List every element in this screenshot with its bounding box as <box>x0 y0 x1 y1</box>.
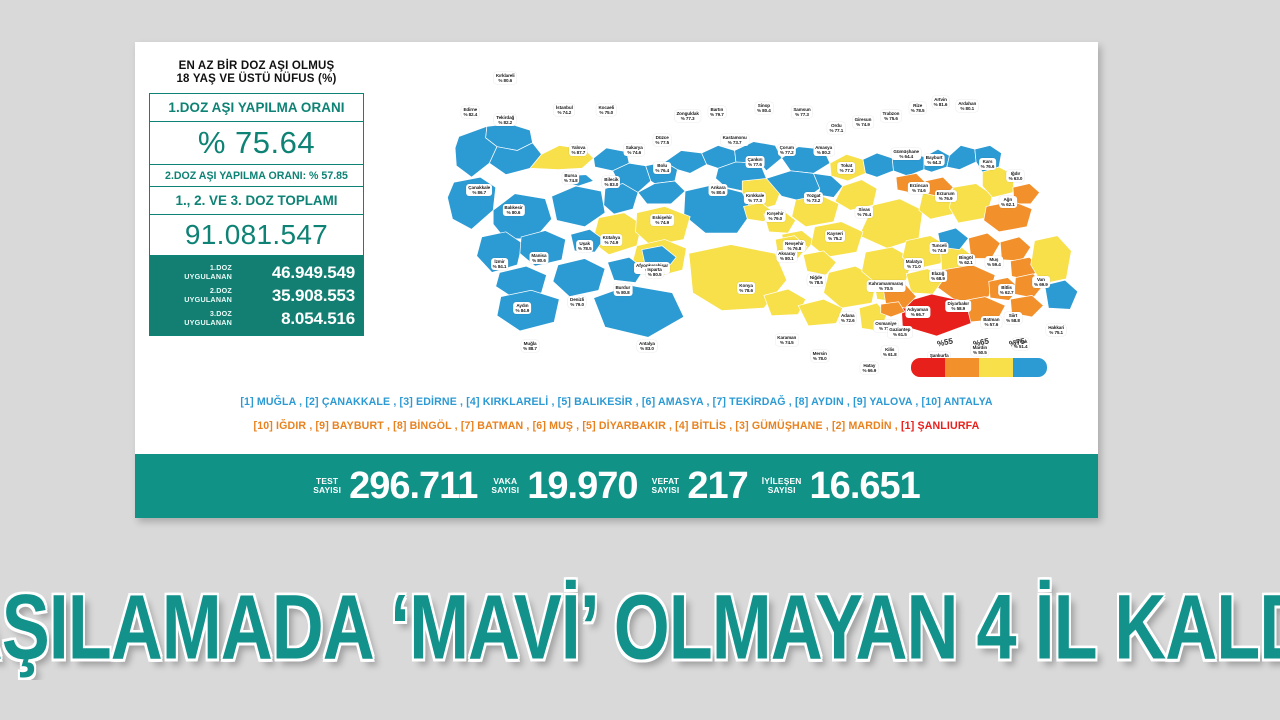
legend-tick-65: %65 <box>972 336 990 348</box>
province-label-tokat: Tokat % 77.2 <box>838 162 856 174</box>
province-label-rize: Rize % 78.5 <box>909 102 927 114</box>
province-label-kayseri: Kayseri % 75.2 <box>825 230 845 242</box>
total-recovered-value: 16.651 <box>810 465 920 508</box>
total-case: VAKA SAYISI 19.970 <box>491 465 637 508</box>
province-label-ankara: Ankara % 80.6 <box>709 184 728 196</box>
province-label-kahramanmaraş: Kahramanmaraş % 70.5 <box>867 280 906 292</box>
total-doses-title: 1., 2. VE 3. DOZ TOPLAMI <box>149 186 364 214</box>
province-label-erzincan: Erzincan % 74.6 <box>908 182 930 194</box>
province-label-yozgat: Yozgat % 73.2 <box>804 192 822 204</box>
province-label-ardahan: Ardahan % 80.1 <box>956 100 978 112</box>
province-label-isparta: Isparta % 80.5 <box>645 266 663 278</box>
province-label-zonguldak: Zonguldak % 77.3 <box>674 110 700 122</box>
province-label-trabzon: Trabzon % 75.6 <box>880 110 901 122</box>
province-label-artvin: Artvin % 81.6 <box>932 96 950 108</box>
province-label-kırklareli: Kırklareli % 80.6 <box>494 72 517 84</box>
province-label-aydın: Aydın % 84.9 <box>514 302 532 314</box>
province-label-sinop: Sinop % 80.4 <box>755 102 773 114</box>
province-label-balıkesir: Balıkesir % 80.6 <box>502 204 524 216</box>
province-label-kars: Kars % 76.6 <box>979 158 997 170</box>
province-label-kastamonu: Kastamonu % 73.7 <box>721 134 749 146</box>
province-label-kilis: Kilis % 61.8 <box>881 346 899 358</box>
province-label-mersin: Mersin % 78.0 <box>811 350 829 362</box>
vaccination-stats-panel: EN AZ BİR DOZ AŞI OLMUŞ 18 YAŞ VE ÜSTÜ N… <box>149 60 364 336</box>
dose-1-label: 1.DOZ UYGULANAN <box>154 264 232 280</box>
first-dose-rate-title: 1.DOZ AŞI YAPILMA ORANI <box>149 93 364 121</box>
province-label-malatya: Malatya % 71.0 <box>904 258 924 270</box>
map-legend: %55 %65 %75 <box>911 338 1051 378</box>
province-label-ordu: Ordu % 77.1 <box>827 122 845 134</box>
province-label-batman: Batman % 57.6 <box>981 316 1001 328</box>
province-label-bingöl: Bingöl % 62.1 <box>957 254 975 266</box>
province-label-gümüşhane: Gümüşhane % 64.4 <box>891 148 921 160</box>
total-recovered-label: İYİLEŞEN SAYISI <box>762 477 802 496</box>
dose-3-label: 3.DOZ UYGULANAN <box>154 310 232 326</box>
legend-swatch-yellow <box>979 358 1013 377</box>
province-label-aksaray: Aksaray % 80.1 <box>776 250 797 262</box>
province-label-i̇zmir: İzmir % 84.1 <box>491 258 509 270</box>
province-label-adana: Adana % 72.6 <box>839 312 857 324</box>
province-label-bayburt: Bayburt % 64.3 <box>924 154 945 166</box>
lowest-cities-prefix: [10] IĞDIR , [9] BAYBURT , [8] BİNGÖL , … <box>254 420 901 432</box>
province-label-muş: Muş % 59.4 <box>985 256 1003 268</box>
province-label-giresun: Giresun % 74.9 <box>853 116 874 128</box>
province-label-siirt: Siirt % 58.8 <box>1004 312 1022 324</box>
province-label-erzurum: Erzurum % 76.9 <box>935 190 957 202</box>
province-label-hatay: Hatay % 66.9 <box>860 362 878 374</box>
total-doses-value: 91.081.547 <box>149 214 364 256</box>
daily-totals-bar: TEST SAYISI 296.711 VAKA SAYISI 19.970 V… <box>135 454 1098 518</box>
province-label-edirne: Edirne % 82.4 <box>461 106 479 118</box>
total-death-label: VEFAT SAYISI <box>651 477 679 496</box>
first-dose-rate-value: % 75.64 <box>149 121 364 164</box>
total-test: TEST SAYISI 296.711 <box>313 465 477 508</box>
total-test-label: TEST SAYISI <box>313 477 341 496</box>
province-label-bursa: Bursa % 74.8 <box>562 172 580 184</box>
province-label-bilecik: Bilecik % 83.0 <box>602 176 620 188</box>
province-label-muğla: Muğla % 88.7 <box>521 340 539 352</box>
province-label-amasya: Amasya % 80.2 <box>813 144 834 156</box>
province-label-bitlis: Bitlis % 62.7 <box>998 284 1016 296</box>
total-death: VEFAT SAYISI 217 <box>651 465 747 508</box>
province-label-çanakkale: Çanakkale % 86.7 <box>466 184 492 196</box>
province-denizli <box>553 259 605 297</box>
province-bursa <box>552 186 605 227</box>
province-label-yalova: Yalova % 87.7 <box>569 144 587 156</box>
stats-heading: EN AZ BİR DOZ AŞI OLMUŞ 18 YAŞ VE ÜSTÜ N… <box>149 60 364 86</box>
legend-color-bars <box>911 358 1047 377</box>
province-label-çankırı: Çankırı % 77.6 <box>746 156 765 168</box>
legend-tick-55: %55 <box>936 336 954 348</box>
province-label-i̇stanbul: İstanbul % 74.2 <box>554 104 575 116</box>
province-label-kırşehir: Kırşehir % 79.0 <box>765 210 786 222</box>
total-case-value: 19.970 <box>527 465 637 508</box>
province-label-kocaeli: Kocaeli % 75.0 <box>596 104 616 116</box>
province-label-uşak: Uşak % 78.5 <box>576 240 594 252</box>
province-label-çorum: Çorum % 77.2 <box>778 144 796 156</box>
province-antalya <box>594 285 684 337</box>
legend-swatch-orange <box>945 358 979 377</box>
dose-row: 1.DOZ UYGULANAN 46.949.549 <box>150 261 363 284</box>
province-label-burdur: Burdur % 80.8 <box>613 284 632 296</box>
dose-row: 2.DOZ UYGULANAN 35.908.553 <box>150 284 363 307</box>
province-label-iğdır: Iğdır % 63.0 <box>1007 170 1025 182</box>
dose-breakdown-table: 1.DOZ UYGULANAN 46.949.549 2.DOZ UYGULAN… <box>149 256 364 336</box>
province-label-gaziantep: Gaziantep % 61.5 <box>887 326 912 338</box>
dose-2-label: 2.DOZ UYGULANAN <box>154 287 232 303</box>
dose-1-value: 46.949.549 <box>272 263 355 283</box>
province-label-kırıkkale: Kırıkkale % 77.3 <box>744 192 766 204</box>
legend-tick-75: %75 <box>1008 336 1026 348</box>
dose-2-value: 35.908.553 <box>272 286 355 306</box>
province-label-tunceli: Tunceli % 74.9 <box>930 242 949 254</box>
dose-row: 3.DOZ UYGULANAN 8.054.516 <box>150 307 363 330</box>
city-ranking-lists: [1] MUĞLA , [2] ÇANAKKALE , [3] EDİRNE ,… <box>135 390 1098 438</box>
total-case-label: VAKA SAYISI <box>491 477 519 496</box>
province-label-düzce: Düzce % 77.5 <box>653 134 671 146</box>
province-label-manisa: Manisa % 80.6 <box>529 252 548 264</box>
lowest-vaccinated-cities: [10] IĞDIR , [9] BAYBURT , [8] BİNGÖL , … <box>135 414 1098 438</box>
total-test-value: 296.711 <box>349 465 477 508</box>
province-label-hakkari: Hakkari % 75.1 <box>1046 324 1066 336</box>
dose-3-value: 8.054.516 <box>281 309 355 329</box>
province-label-elazığ: Elazığ % 68.9 <box>929 270 947 282</box>
province-label-tekirdağ: Tekirdağ % 82.2 <box>494 114 516 126</box>
province-label-van: Van % 69.9 <box>1032 276 1050 288</box>
province-label-karaman: Karaman % 74.5 <box>775 334 798 346</box>
province-muş <box>1000 237 1030 261</box>
province-label-eskişehir: Eskişehir % 74.9 <box>650 214 674 226</box>
province-label-denizli: Denizli % 79.0 <box>568 296 586 308</box>
province-label-adıyaman: Adıyaman % 66.7 <box>905 306 930 318</box>
province-label-kütahya: Kütahya % 74.9 <box>601 234 622 246</box>
total-death-value: 217 <box>687 465 747 508</box>
province-label-diyarbakır: Diyarbakır % 58.9 <box>946 300 971 312</box>
province-label-bartın: Bartın % 79.7 <box>708 106 726 118</box>
province-iğdır <box>1013 184 1040 204</box>
province-label-sivas: Sivas % 76.4 <box>855 206 873 218</box>
lowest-city-highlight: [1] ŞANLIURFA <box>901 420 979 432</box>
province-artvin <box>947 145 976 169</box>
province-label-niğde: Niğde % 78.5 <box>807 274 825 286</box>
news-headline-banner: AŞILAMADA ‘MAVİ’ OLMAYAN 4 İL KALDI <box>0 575 1280 680</box>
province-label-konya: Konya % 78.6 <box>737 282 755 294</box>
province-giresun <box>863 153 893 177</box>
legend-swatch-red <box>911 358 945 377</box>
top-vaccinated-cities: [1] MUĞLA , [2] ÇANAKKALE , [3] EDİRNE ,… <box>135 390 1098 414</box>
province-label-antalya: Antalya % 83.0 <box>637 340 657 352</box>
province-label-ağrı: Ağrı % 62.1 <box>999 196 1017 208</box>
legend-swatch-blue <box>1013 358 1047 377</box>
infographic-card: EN AZ BİR DOZ AŞI OLMUŞ 18 YAŞ VE ÜSTÜ N… <box>135 42 1098 518</box>
news-headline-text: AŞILAMADA ‘MAVİ’ OLMAYAN 4 İL KALDI <box>0 575 1280 680</box>
province-label-bolu: Bolu % 76.4 <box>653 162 671 174</box>
province-label-sakarya: Sakarya % 74.6 <box>624 144 645 156</box>
total-recovered: İYİLEŞEN SAYISI 16.651 <box>762 465 920 508</box>
second-dose-rate-text: 2.DOZ AŞI YAPILMA ORANI: % 57.85 <box>149 164 364 186</box>
province-label-samsun: Samsun % 77.3 <box>791 106 812 118</box>
